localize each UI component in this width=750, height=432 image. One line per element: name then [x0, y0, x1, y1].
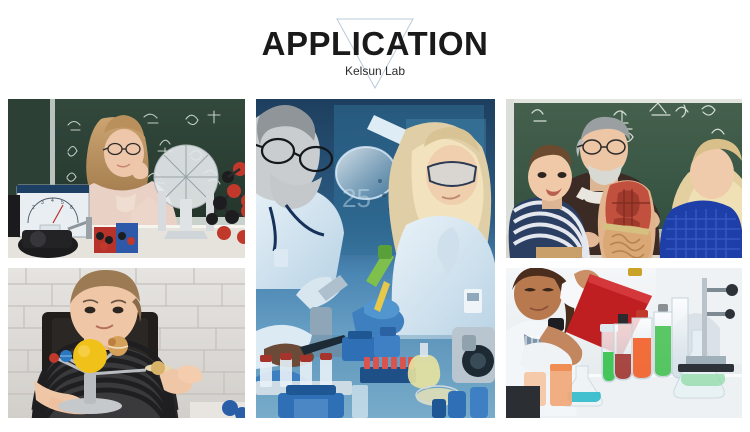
boy-with-solar-system-model-image: [8, 268, 245, 418]
teacher-with-anatomy-model-image: [506, 99, 742, 258]
student-with-chemistry-glassware-image: [506, 268, 742, 418]
page-header: APPLICATION Kelsun Lab: [0, 0, 750, 95]
svg-text:25: 25: [342, 183, 371, 213]
gallery-item-bottom-left[interactable]: [8, 268, 245, 418]
svg-text:2: 2: [32, 205, 35, 211]
page-subtitle: Kelsun Lab: [0, 64, 750, 78]
svg-text:4: 4: [51, 198, 54, 204]
student-with-physics-apparatus-image: 23 45 6: [8, 99, 245, 258]
gallery-item-middle[interactable]: 25: [256, 99, 495, 418]
svg-text:3: 3: [41, 200, 44, 206]
scientists-in-laboratory-image: 25: [256, 99, 495, 418]
gallery-item-top-left[interactable]: 23 45 6: [8, 99, 245, 258]
page-title: APPLICATION: [0, 27, 750, 61]
gallery-item-top-right[interactable]: [506, 99, 742, 258]
image-gallery: 23 45 6: [8, 99, 742, 418]
svg-text:6: 6: [70, 205, 73, 211]
gallery-item-bottom-right[interactable]: [506, 268, 742, 418]
